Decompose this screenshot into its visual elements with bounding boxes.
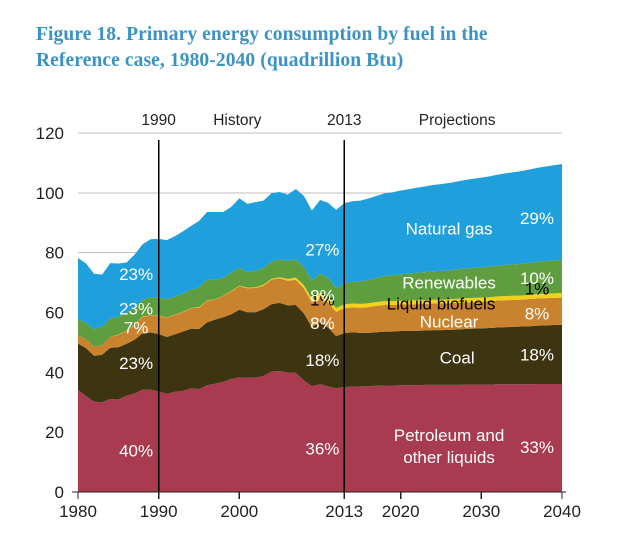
x-tick-label-2040: 2040: [543, 502, 581, 521]
x-tick-label-2013: 2013: [325, 502, 363, 521]
share-label-renewables-2040: 10%: [520, 269, 554, 288]
annotation-projections-label: Projections: [419, 112, 496, 129]
share-label-coal-1990: 23%: [119, 354, 153, 373]
share-label-renewables-2013: 8%: [310, 287, 335, 306]
share-label-nuclear-2040: 8%: [525, 305, 550, 324]
y-tick-label-100: 100: [36, 184, 64, 203]
y-tick-label-0: 0: [55, 483, 64, 502]
y-tick-label-120: 120: [36, 124, 64, 143]
series-label-petroleum-and-other-liquids-line2: other liquids: [403, 448, 495, 467]
series-label-natural-gas: Natural gas: [406, 220, 493, 239]
share-label-nuclear-1990: 7%: [124, 318, 149, 337]
y-tick-label-20: 20: [45, 423, 64, 442]
y-tick-label-80: 80: [45, 244, 64, 263]
share-label-petroleum-and-other-liquids-1990: 40%: [119, 442, 153, 461]
share-label-natural-gas-2040: 29%: [520, 209, 554, 228]
x-tick-label-2020: 2020: [382, 502, 420, 521]
figure-container: Figure 18. Primary energy consumption by…: [0, 0, 623, 553]
share-label-natural-gas-1990: 23%: [119, 265, 153, 284]
share-label-natural-gas-2013: 27%: [305, 240, 339, 259]
share-label-coal-2013: 18%: [305, 351, 339, 370]
series-label-renewables: Renewables: [402, 274, 496, 293]
series-label-liquid-biofuels: Liquid biofuels: [387, 295, 496, 314]
series-label-nuclear: Nuclear: [420, 312, 479, 331]
share-label-nuclear-2013: 8%: [310, 314, 335, 333]
share-label-renewables-1990: 23%: [119, 299, 153, 318]
annotation-history-label: History: [213, 112, 261, 129]
x-tick-label-2000: 2000: [220, 502, 258, 521]
annotation-divider-right-label: 2013: [327, 112, 361, 129]
share-label-coal-2040: 18%: [520, 345, 554, 364]
x-tick-label-1990: 1990: [140, 502, 178, 521]
x-tick-label-2030: 2030: [462, 502, 500, 521]
stacked-area-chart: 0204060801001201980199020002013202020302…: [0, 0, 623, 553]
share-label-petroleum-and-other-liquids-2040: 33%: [520, 438, 554, 457]
series-label-petroleum-and-other-liquids-line1: Petroleum and: [394, 426, 505, 445]
series-label-coal: Coal: [440, 348, 475, 367]
y-tick-label-40: 40: [45, 363, 64, 382]
share-label-petroleum-and-other-liquids-2013: 36%: [305, 439, 339, 458]
annotation-divider-left-label: 1990: [141, 112, 176, 129]
y-tick-label-60: 60: [45, 304, 64, 323]
x-tick-label-1980: 1980: [59, 502, 97, 521]
